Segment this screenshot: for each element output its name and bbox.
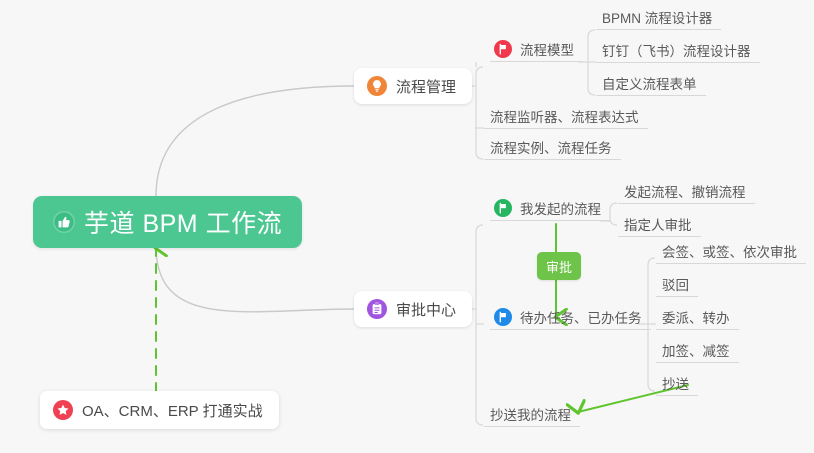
branch-node-approval-center[interactable]: 审批中心: [354, 291, 472, 327]
thumbs-up-icon: [53, 211, 75, 233]
branch-node-process-management[interactable]: 流程管理: [354, 68, 472, 104]
star-icon: [53, 400, 73, 420]
leaf-label: 钉钉（飞书）流程设计器: [602, 44, 751, 59]
child-node-my-started-processes[interactable]: 我发起的流程: [490, 197, 610, 221]
leaf-node-dingtalk-feishu-designer[interactable]: 钉钉（飞书）流程设计器: [596, 39, 760, 63]
annotation-label: 审批: [546, 257, 572, 276]
child-node-process-instance-task[interactable]: 流程实例、流程任务: [484, 136, 621, 160]
edge-model-spine: [588, 30, 595, 95]
child-label: 流程监听器、流程表达式: [490, 110, 639, 125]
child-node-process-listener-expression[interactable]: 流程监听器、流程表达式: [484, 105, 648, 129]
leaf-node-delegate-transfer[interactable]: 委派、转办: [656, 306, 739, 330]
leaf-node-add-remove-sign[interactable]: 加签、减签: [656, 339, 739, 363]
branch-label: 流程管理: [396, 76, 456, 97]
flag-icon: [494, 40, 512, 58]
child-label: 流程实例、流程任务: [490, 141, 612, 156]
child-node-cc-to-me-processes[interactable]: 抄送我的流程: [484, 403, 580, 427]
leaf-node-custom-process-form[interactable]: 自定义流程表单: [596, 72, 706, 96]
leaf-node-bpmn-designer[interactable]: BPMN 流程设计器: [596, 6, 721, 30]
edge-ac-spine: [476, 225, 483, 425]
child-label: 待办任务、已办任务: [520, 311, 642, 326]
leaf-label: 委派、转办: [662, 311, 730, 326]
annotation-approval-tag[interactable]: 审批: [537, 252, 581, 280]
leaf-node-start-cancel-process[interactable]: 发起流程、撤销流程: [618, 180, 755, 204]
leaf-node-carbon-copy[interactable]: 抄送: [656, 372, 698, 396]
leaf-label: 驳回: [662, 278, 689, 293]
leaf-node-assignee-approval[interactable]: 指定人审批: [618, 213, 701, 237]
leaf-node-reject[interactable]: 驳回: [656, 273, 698, 297]
child-label: 抄送我的流程: [490, 408, 571, 423]
child-label: 流程模型: [520, 43, 574, 58]
mindmap-canvas: 芋道 BPM 工作流 流程管理 流程模型 BPMN 流程设计器 钉钉（飞书: [0, 0, 814, 453]
leaf-label: 自定义流程表单: [602, 77, 697, 92]
annotation-integration-callout[interactable]: OA、CRM、ERP 打通实战: [40, 391, 279, 429]
root-label: 芋道 BPM 工作流: [84, 204, 282, 240]
lightbulb-icon: [367, 76, 387, 96]
child-label: 我发起的流程: [520, 202, 601, 217]
flag-icon: [494, 308, 512, 326]
edge-root-to-process-management: [156, 86, 354, 196]
annotation-label: OA、CRM、ERP 打通实战: [82, 400, 263, 421]
edge-pm-spine: [476, 67, 483, 159]
child-node-process-model[interactable]: 流程模型: [490, 38, 583, 62]
leaf-label: 发起流程、撤销流程: [624, 185, 746, 200]
edge-root-to-approval-center: [156, 246, 354, 312]
branch-label: 审批中心: [396, 299, 456, 320]
flag-icon: [494, 199, 512, 217]
leaf-label: 会签、或签、依次审批: [662, 245, 797, 260]
leaf-label: 抄送: [662, 377, 689, 392]
leaf-label: 加签、减签: [662, 344, 730, 359]
clipboard-icon: [367, 299, 387, 319]
leaf-label: 指定人审批: [624, 218, 692, 233]
edge-started-spine: [610, 203, 617, 225]
root-node[interactable]: 芋道 BPM 工作流: [33, 196, 302, 248]
leaf-label: BPMN 流程设计器: [602, 11, 712, 26]
leaf-node-countersign-orsign-sequential[interactable]: 会签、或签、依次审批: [656, 240, 806, 264]
child-node-todo-done-tasks[interactable]: 待办任务、已办任务: [490, 306, 651, 330]
